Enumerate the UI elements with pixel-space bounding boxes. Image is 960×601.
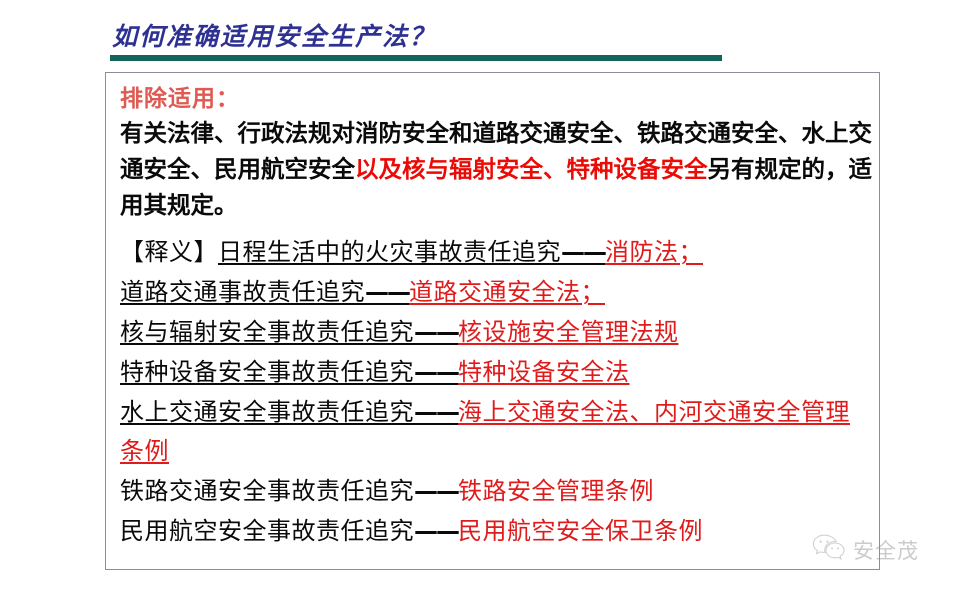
content-frame: 排除适用： 有关法律、行政法规对消防安全和道路交通安全、铁路交通安全、水上交通安… <box>105 72 880 570</box>
explanation-subject: 水上交通安全事故责任追究 <box>120 400 414 426</box>
explanation-subject: 特种设备安全事故责任追究 <box>120 360 414 386</box>
explanation-line: 铁路交通安全事故责任追究——铁路安全管理条例 <box>120 472 872 512</box>
explanation-subject: 日程生活中的火灾事故责任追究 <box>218 240 561 266</box>
explanation-law: 核设施安全管理法规 <box>458 320 679 346</box>
explanation-subject: 民用航空安全事故责任追究 <box>120 519 414 545</box>
explanation-dash: —— <box>561 238 605 266</box>
explanation-dash: —— <box>414 517 458 545</box>
explanation-law: 民用航空安全保卫条例 <box>458 519 703 545</box>
exclusion-heading: 排除适用： <box>120 81 871 115</box>
explanation-law: 特种设备安全法 <box>458 360 630 386</box>
explanation-line: 民用航空安全事故责任追究——民用航空安全保卫条例 <box>120 512 872 552</box>
explanation-dash: —— <box>365 278 409 306</box>
paragraph-segment-red: 以及核与辐射安全、特种设备安全 <box>355 156 708 182</box>
explanation-line: 核与辐射安全事故责任追究——核设施安全管理法规 <box>120 313 872 353</box>
exclusion-paragraph: 有关法律、行政法规对消防安全和道路交通安全、铁路交通安全、水上交通安全、民用航空… <box>120 115 872 223</box>
explanation-subject: 核与辐射安全事故责任追究 <box>120 320 414 346</box>
explanation-line: 水上交通安全事故责任追究——海上交通安全法、内河交通安全管理条例 <box>120 393 872 472</box>
explanation-law: 道路交通安全法； <box>409 280 605 306</box>
explanation-line: 道路交通事故责任追究——道路交通安全法； <box>120 273 872 313</box>
explanation-dash: —— <box>414 358 458 386</box>
explanation-prefix: 【释义】 <box>120 240 218 266</box>
page-title: 如何准确适用安全生产法？ <box>112 20 436 54</box>
explanation-subject: 铁路交通安全事故责任追究 <box>120 479 414 505</box>
explanation-line: 特种设备安全事故责任追究——特种设备安全法 <box>120 353 872 393</box>
explanation-law: 消防法； <box>605 240 703 266</box>
explanation-line: 【释义】日程生活中的火灾事故责任追究——消防法； <box>120 233 872 273</box>
explanation-dash: —— <box>414 477 458 505</box>
explanation-dash: —— <box>414 318 458 346</box>
explanation-dash: —— <box>414 398 458 426</box>
title-underline-rule <box>110 55 722 61</box>
explanation-subject: 道路交通事故责任追究 <box>120 280 365 306</box>
explanation-block: 【释义】日程生活中的火灾事故责任追究——消防法； 道路交通事故责任追究——道路交… <box>120 233 872 552</box>
content-inner: 排除适用： 有关法律、行政法规对消防安全和道路交通安全、铁路交通安全、水上交通安… <box>120 81 871 552</box>
explanation-law: 铁路安全管理条例 <box>458 479 654 505</box>
